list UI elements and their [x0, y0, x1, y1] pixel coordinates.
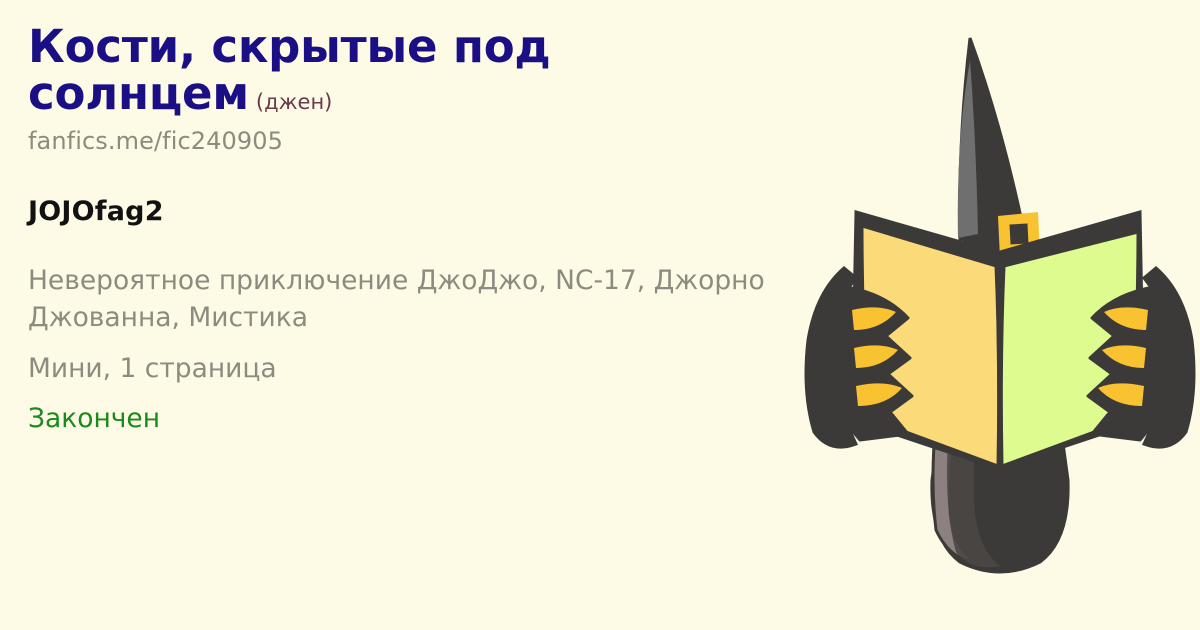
- title-block: Кости, скрытые под солнцем(джен): [28, 24, 818, 118]
- robe-inner-shadow: [947, 330, 1000, 567]
- left-claw-1: [852, 307, 896, 330]
- left-claw-2: [854, 345, 898, 368]
- robe-highlight: [933, 330, 976, 562]
- left-claw-3: [856, 383, 902, 406]
- witch-hat-highlight: [958, 60, 978, 238]
- hat-buckle: [998, 212, 1040, 258]
- robe-body: [932, 215, 1068, 572]
- fanfic-preview-card: Кости, скрытые под солнцем(джен) fanfics…: [0, 0, 1200, 630]
- right-hand: [1144, 268, 1194, 447]
- robe-group: [932, 215, 1068, 572]
- witch-hat-cone: [960, 38, 1022, 240]
- right-hand-fist: [1088, 286, 1168, 440]
- right-claw-1: [1104, 307, 1148, 330]
- fic-size-meta: Мини, 1 страница: [28, 350, 818, 388]
- fic-genre-label: (джен): [249, 90, 332, 114]
- witch-hat-brim: [900, 236, 1090, 292]
- left-hand-fist: [832, 286, 912, 440]
- right-claw-3: [1098, 383, 1144, 406]
- status-badge: Закончен: [28, 400, 818, 438]
- book-page-right: [1001, 232, 1138, 466]
- book-spine: [996, 252, 1002, 470]
- witch-hat-group: [900, 38, 1090, 292]
- right-claw-2: [1102, 345, 1146, 368]
- book-cover-right: [1000, 212, 1144, 468]
- book-page-left: [862, 226, 999, 466]
- fic-fandom-meta: Невероятное приключение ДжоДжо, NC-17, Д…: [28, 262, 803, 337]
- fic-author[interactable]: JOJOfag2: [28, 196, 818, 227]
- right-hand-group: [1088, 268, 1194, 447]
- hat-buckle-hole: [1009, 224, 1028, 245]
- left-hand-group: [806, 268, 912, 447]
- fic-url[interactable]: fanfics.me/fic240905: [28, 127, 818, 155]
- fic-text-column: Кости, скрытые под солнцем(джен) fanfics…: [28, 24, 818, 438]
- book-cover-left: [852, 212, 996, 468]
- book-group: [852, 212, 1144, 470]
- witch-reading-book-illustration: [800, 0, 1200, 630]
